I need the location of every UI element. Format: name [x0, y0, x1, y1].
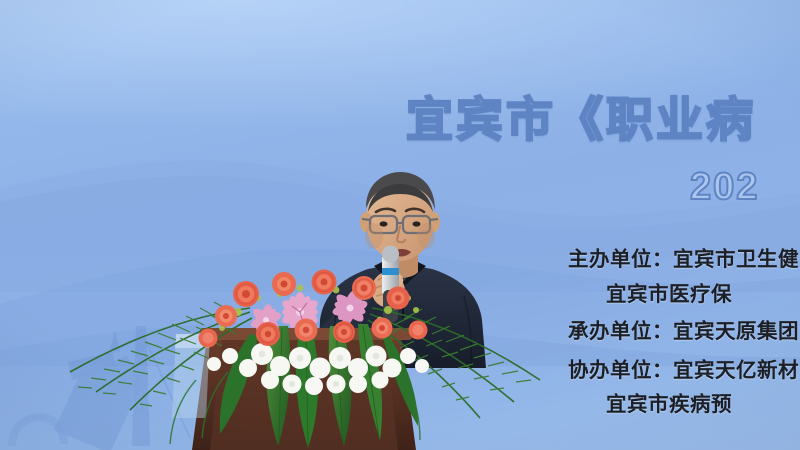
banner-title: 宜宾市《职业病: [406, 96, 756, 143]
organizer-line-host-2: 宜宾市医疗保: [606, 285, 800, 306]
banner-year: 202: [690, 168, 759, 206]
event-photograph: 宜宾市《职业病 202 主办单位：宜宾市卫生健 宜宾市医疗保 承办单位：宜宾天原…: [0, 0, 800, 450]
organizer-line-coorganizer-2: 宜宾市疾病预: [606, 395, 800, 416]
podium-with-flowers: [0, 268, 620, 450]
